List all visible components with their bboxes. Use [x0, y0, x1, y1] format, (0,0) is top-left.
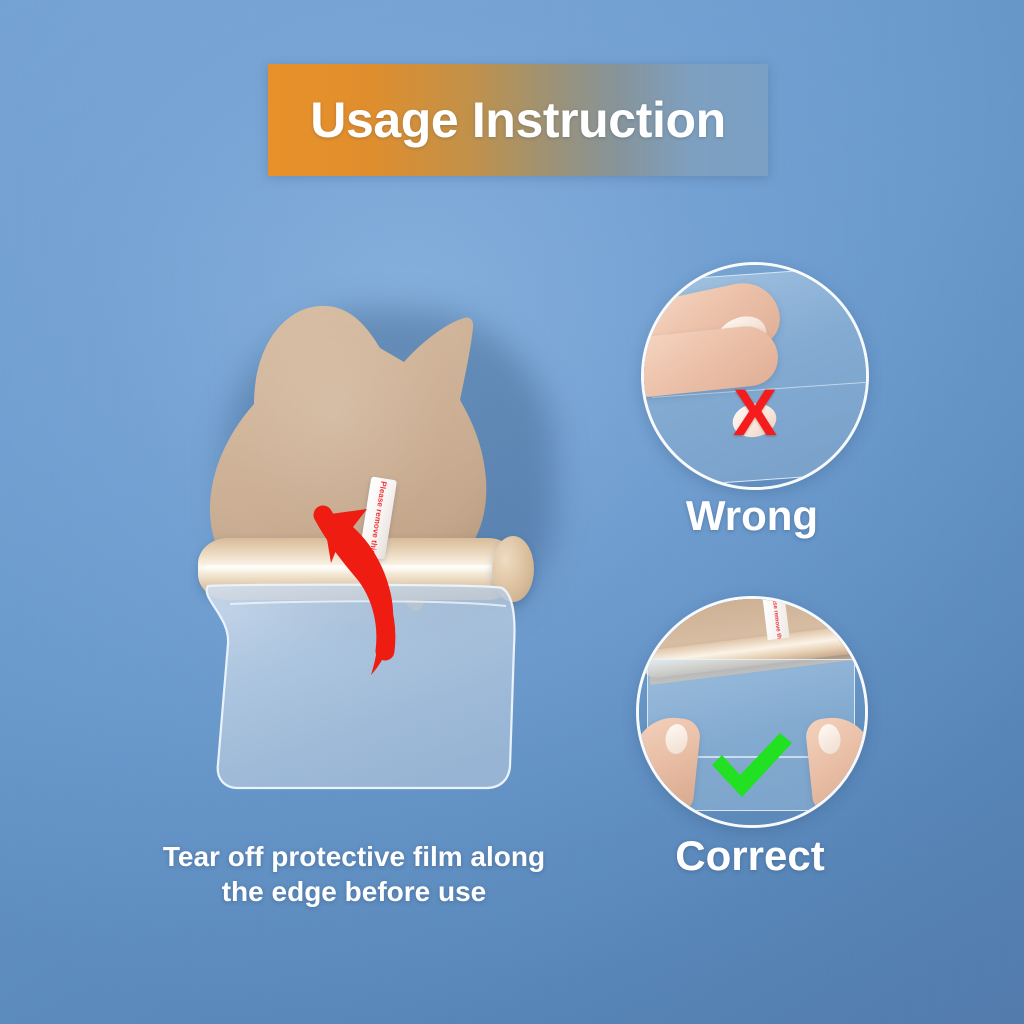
pull-tab-text: Please remove this	[770, 596, 783, 640]
fingernail	[664, 723, 689, 755]
x-mark-icon: X	[733, 379, 777, 445]
caption-line-2: the edge before use	[96, 875, 612, 910]
product-photo: Please remove this	[120, 270, 590, 830]
curved-arrow-icon	[305, 485, 440, 685]
correct-example-circle: Please remove this	[636, 596, 868, 828]
wrong-example-circle: X	[641, 262, 869, 490]
check-mark-icon	[708, 731, 796, 801]
wrong-label: Wrong	[602, 492, 902, 540]
instruction-graphic: Usage Instruction	[0, 0, 1024, 1024]
fingernail	[817, 723, 842, 755]
caption-line-1: Tear off protective film along	[96, 840, 612, 875]
product-caption: Tear off protective film along the edge …	[96, 840, 612, 909]
page-title: Usage Instruction	[310, 91, 726, 149]
right-hand	[804, 714, 868, 812]
correct-scene: Please remove this	[639, 599, 865, 825]
correct-label: Correct	[600, 832, 900, 880]
left-hand	[636, 714, 702, 812]
wrong-scene: X	[644, 265, 866, 487]
title-banner: Usage Instruction	[268, 64, 768, 176]
